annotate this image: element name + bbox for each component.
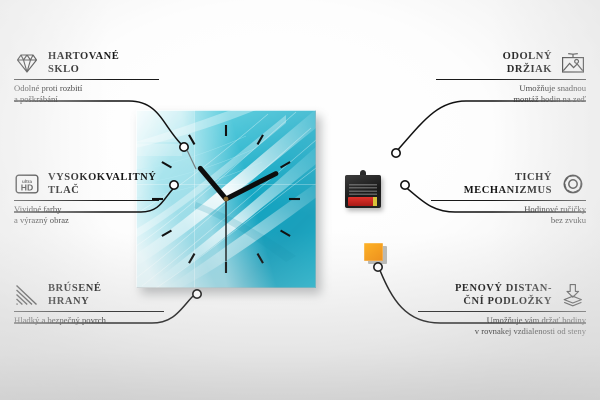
feature-title: BRÚSENÉ HRANY	[48, 282, 101, 308]
connector-dot-foam-spacers	[374, 263, 382, 271]
ultra-hd-icon: ultra HD	[14, 172, 40, 196]
battery-terminal	[373, 197, 377, 206]
feature-title: VYSOKOKVALITNÝ TLAČ	[48, 171, 156, 197]
battery	[348, 197, 377, 206]
feature-divider	[436, 79, 586, 80]
foam-pad-top	[364, 243, 383, 261]
clock-marker	[162, 162, 172, 168]
gear-icon	[560, 172, 586, 196]
feature-divider	[14, 311, 164, 312]
product-infographic: HARTOVANÉ SKLO Odolné proti rozbití a po…	[0, 0, 600, 400]
foam-spacer-pad	[364, 243, 384, 262]
clock-minute-hand	[226, 174, 276, 199]
feature-divider	[14, 79, 159, 80]
feature-durable-hanger[interactable]: ODOLNÝ DRŽIAK Umožňuje snadnou montáž ho…	[436, 50, 586, 104]
feature-subtitle: Umožňuje snadnou montáž hodin na zeď	[436, 83, 586, 104]
picture-frame-icon	[560, 51, 586, 75]
feature-subtitle: Vividné farby a výrazný obraz	[14, 204, 159, 225]
feature-subtitle: Umožňuje vám držať hodiny v rovnakej vzd…	[418, 315, 586, 336]
clock-marker	[281, 231, 291, 237]
feature-header: BRÚSENÉ HRANY	[14, 282, 164, 308]
clock-mechanism	[345, 170, 381, 210]
feature-divider	[431, 200, 586, 201]
clock-marker	[189, 135, 195, 145]
feature-header: PENOVÝ DISTAN- ČNÍ PODLOŽKY	[418, 282, 586, 308]
feature-title: PENOVÝ DISTAN- ČNÍ PODLOŽKY	[455, 282, 552, 308]
clock-dial	[136, 110, 316, 288]
clock-product-image	[136, 110, 316, 288]
feature-ground-edges[interactable]: BRÚSENÉ HRANY Hladký a bezpečný povrch	[14, 282, 164, 326]
diamond-icon	[14, 51, 40, 75]
clock-marker	[162, 231, 172, 237]
clock-hands-and-markers	[136, 110, 316, 288]
feature-silent-mechanism[interactable]: TICHÝ MECHANIZMUS Hodinové ručičky bez z…	[431, 171, 586, 225]
clock-hour-hand	[200, 168, 226, 199]
ultra-hd-icon-large-text: HD	[21, 182, 33, 192]
feature-subtitle: Odolné proti rozbití a poškrábání	[14, 83, 159, 104]
feature-subtitle: Hodinové ručičky bez zvuku	[431, 204, 586, 225]
feature-foam-spacers[interactable]: PENOVÝ DISTAN- ČNÍ PODLOŽKY Umožňuje vám…	[418, 282, 586, 336]
connector-dot-silent-mechanism	[401, 181, 409, 189]
clock-marker	[281, 162, 291, 168]
feature-header: TICHÝ MECHANIZMUS	[431, 171, 586, 197]
feature-divider	[14, 200, 159, 201]
connector-durable-hanger	[396, 101, 586, 152]
clock-marker	[189, 254, 195, 264]
feature-tempered-glass[interactable]: HARTOVANÉ SKLO Odolné proti rozbití a po…	[14, 50, 159, 104]
beveled-edge-icon	[14, 283, 40, 307]
feature-header: ultra HD VYSOKOKVALITNÝ TLAČ	[14, 171, 159, 197]
connector-dot-durable-hanger	[392, 149, 400, 157]
clock-marker	[258, 135, 264, 145]
feature-title: ODOLNÝ DRŽIAK	[503, 50, 552, 76]
glass-clock-panel	[136, 110, 316, 288]
stacked-pads-arrow-icon	[560, 283, 586, 307]
feature-title: TICHÝ MECHANIZMUS	[464, 171, 552, 197]
feature-high-quality-print[interactable]: ultra HD VYSOKOKVALITNÝ TLAČ Vividné far…	[14, 171, 159, 225]
mechanism-body	[345, 175, 381, 208]
feature-header: HARTOVANÉ SKLO	[14, 50, 159, 76]
feature-subtitle: Hladký a bezpečný povrch	[14, 315, 164, 326]
feature-divider	[418, 311, 586, 312]
clock-center-cap	[224, 197, 229, 202]
clock-marker	[258, 254, 264, 264]
feature-title: HARTOVANÉ SKLO	[48, 50, 119, 76]
mechanism-label	[349, 184, 377, 195]
feature-header: ODOLNÝ DRŽIAK	[436, 50, 586, 76]
